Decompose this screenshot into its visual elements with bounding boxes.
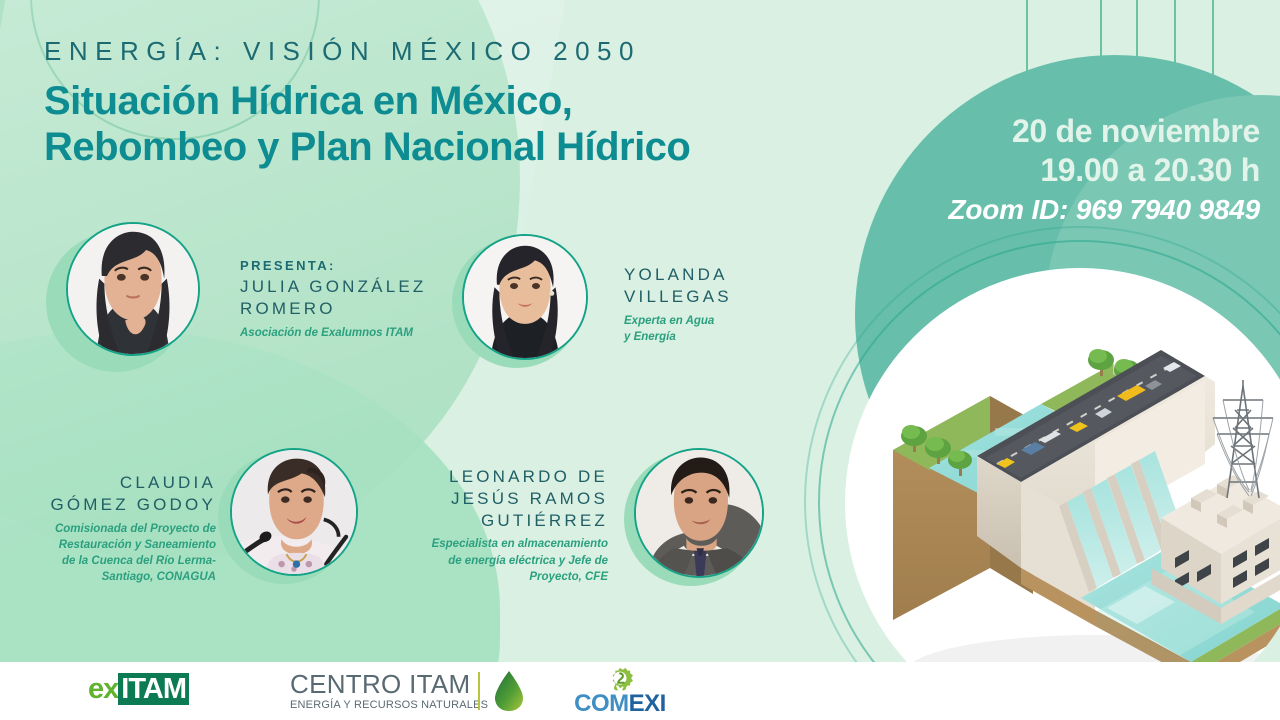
poster-title-line1: Situación Hídrica en México, bbox=[44, 79, 572, 123]
speaker-leonardo-name: LEONARDO DE JESÚS RAMOS GUTIÉRREZ bbox=[400, 466, 608, 531]
logo-centro-itam-subtitle: ENERGÍA Y RECURSOS NATURALES bbox=[290, 699, 488, 711]
speaker-leonardo-info: LEONARDO DE JESÚS RAMOS GUTIÉRREZ Especi… bbox=[400, 466, 608, 585]
speaker-julia-info: PRESENTA: JULIA GONZÁLEZ ROMERO Asociaci… bbox=[240, 258, 440, 341]
speaker-julia-role: Asociación de Exalumnos ITAM bbox=[240, 325, 440, 341]
comexi-gear-icon bbox=[568, 666, 672, 692]
speaker-claudia-role: Comisionada del Proyecto de Restauración… bbox=[16, 521, 216, 586]
event-time: 19.00 a 20.30 h bbox=[900, 151, 1260, 190]
logo-exitam-ex: ex bbox=[88, 673, 118, 705]
water-drop-icon bbox=[492, 669, 526, 713]
avatar-yolanda bbox=[462, 234, 588, 360]
logo-comexi[interactable]: COMEXI bbox=[568, 666, 672, 716]
logo-exitam[interactable]: exITAM bbox=[88, 673, 189, 706]
poster-title-line2: Rebombeo y Plan Nacional Hídrico bbox=[44, 125, 844, 171]
poster-heading: ENERGÍA: VISIÓN MÉXICO 2050 Situación Hí… bbox=[44, 36, 844, 170]
avatar-julia bbox=[66, 222, 200, 356]
speaker-yolanda-name: YOLANDA VILLEGAS bbox=[624, 264, 794, 308]
event-zoom-id: Zoom ID: 969 7940 9849 bbox=[900, 194, 1260, 226]
speaker-julia-name: JULIA GONZÁLEZ ROMERO bbox=[240, 276, 440, 320]
logo-exitam-itam: ITAM bbox=[118, 673, 189, 705]
speaker-claudia-info: CLAUDIA GÓMEZ GODOY Comisionada del Proy… bbox=[16, 472, 216, 586]
isometric-dam-illustration bbox=[845, 268, 1280, 720]
logo-divider bbox=[478, 672, 480, 710]
logo-centro-itam-title: CENTRO ITAM bbox=[290, 671, 488, 697]
poster-title: Situación Hídrica en México, Rebombeo y … bbox=[44, 79, 844, 170]
poster-canvas: ENERGÍA: VISIÓN MÉXICO 2050 Situación Hí… bbox=[0, 0, 1280, 720]
event-details: 20 de noviembre 19.00 a 20.30 h Zoom ID:… bbox=[900, 112, 1260, 226]
logo-comexi-exi: EXI bbox=[629, 690, 666, 717]
logo-comexi-word: COMEXI bbox=[568, 692, 672, 716]
avatar-claudia bbox=[230, 448, 358, 576]
avatar-leonardo bbox=[634, 448, 764, 578]
event-date: 20 de noviembre bbox=[900, 112, 1260, 151]
speaker-julia-eyebrow: PRESENTA: bbox=[240, 258, 440, 273]
speaker-claudia-name: CLAUDIA GÓMEZ GODOY bbox=[16, 472, 216, 516]
speaker-yolanda-role: Experta en Agua y Energía bbox=[624, 313, 794, 346]
speaker-yolanda-info: YOLANDA VILLEGAS Experta en Agua y Energ… bbox=[624, 264, 794, 345]
logo-centro-itam[interactable]: CENTRO ITAM ENERGÍA Y RECURSOS NATURALES bbox=[290, 671, 488, 711]
speaker-leonardo-role: Especialista en almacenamiento de energí… bbox=[400, 536, 608, 585]
logo-comexi-com: COM bbox=[574, 690, 629, 717]
poster-kicker: ENERGÍA: VISIÓN MÉXICO 2050 bbox=[44, 36, 844, 67]
